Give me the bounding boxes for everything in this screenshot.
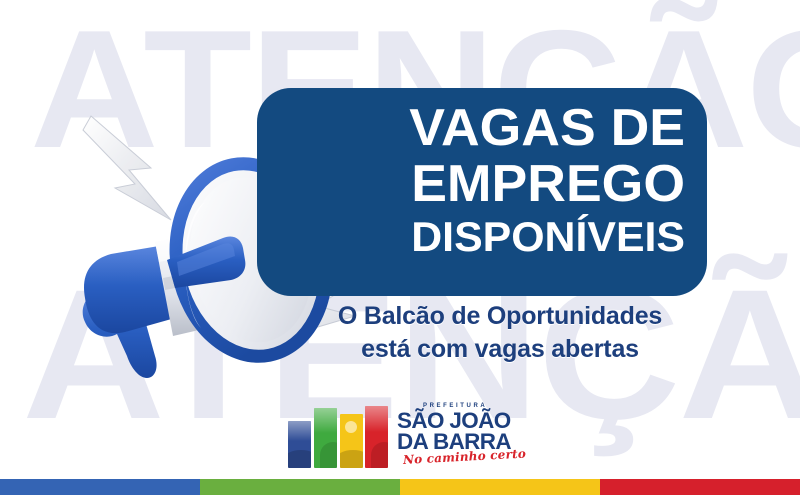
subtitle-line-2: está com vagas abertas bbox=[300, 333, 700, 366]
subtitle-line-1: O Balcão de Oportunidades bbox=[300, 300, 700, 333]
logo-color-bars bbox=[286, 404, 390, 468]
headline-line-3: DISPONÍVEIS bbox=[267, 216, 685, 258]
logo-bar-yellow bbox=[340, 414, 363, 468]
stripe-segment-blue bbox=[0, 479, 200, 495]
logo-bar-green bbox=[314, 408, 337, 468]
stripe-segment-red bbox=[600, 479, 800, 495]
headline-line-1: VAGAS DE bbox=[263, 102, 685, 154]
headline-banner-text: VAGAS DE EMPREGO DISPONÍVEIS bbox=[275, 102, 685, 258]
poster-canvas: ATENÇÃO ATENÇÃO bbox=[0, 0, 800, 495]
logo-bar-red bbox=[365, 406, 388, 468]
bottom-color-stripe bbox=[0, 479, 800, 495]
headline-line-2: EMPREGO bbox=[263, 158, 685, 210]
stripe-segment-yellow bbox=[400, 479, 600, 495]
lightning-bolt-icon-left bbox=[83, 116, 171, 220]
prefecture-logo: PREFEITURA SÃO JOÃO DA BARRA No caminho … bbox=[286, 400, 518, 468]
headline-banner: VAGAS DE EMPREGO DISPONÍVEIS bbox=[257, 88, 707, 296]
logo-wordmark: PREFEITURA SÃO JOÃO DA BARRA No caminho … bbox=[397, 403, 526, 468]
subtitle-block: O Balcão de Oportunidades está com vagas… bbox=[300, 300, 700, 365]
stripe-segment-green bbox=[200, 479, 400, 495]
logo-bar-blue bbox=[288, 421, 311, 468]
